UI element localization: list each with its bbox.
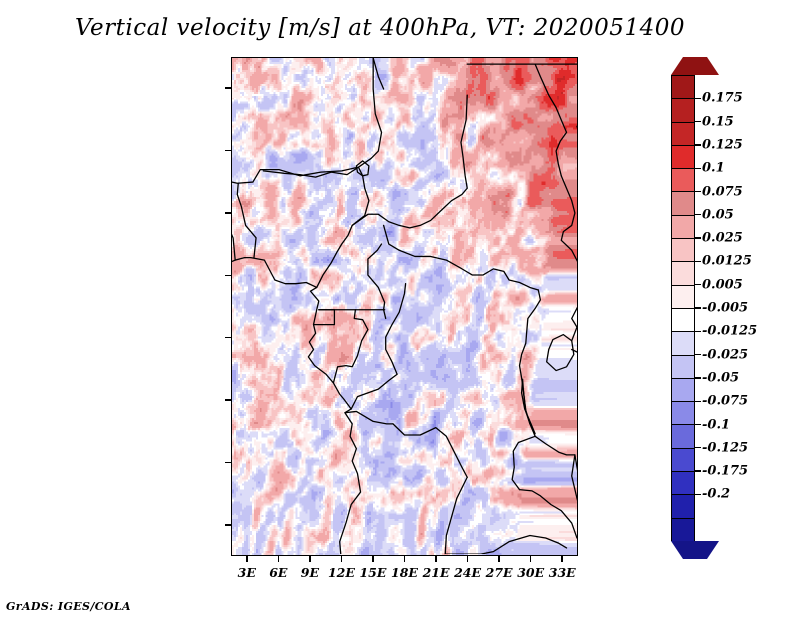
border-line — [481, 536, 567, 555]
border-line — [232, 258, 317, 288]
colorbar-tick — [695, 214, 701, 215]
border-line — [547, 335, 574, 371]
colorbar-tick — [695, 237, 701, 238]
border-line — [445, 477, 467, 554]
x-tick — [467, 556, 469, 562]
x-tick — [404, 556, 406, 562]
colorbar-tick-label: 0.1 — [702, 161, 725, 176]
footer-credit: GrADS: IGES/COLA — [6, 600, 131, 613]
map-plot-area — [231, 57, 578, 556]
border-line — [535, 64, 566, 176]
colorbar-tick-label: 0.0125 — [702, 254, 752, 269]
x-axis-label: 9E — [301, 565, 319, 580]
colorbar-band — [672, 519, 694, 542]
colorbar-band — [672, 495, 694, 518]
colorbar-band — [672, 356, 694, 379]
x-tick — [278, 556, 280, 562]
country-borders-overlay — [232, 58, 577, 554]
colorbar-band — [672, 169, 694, 192]
colorbar-tick-label: -0.075 — [702, 394, 748, 409]
colorbar-tick-label: -0.05 — [702, 370, 739, 385]
colorbar-band — [672, 76, 694, 99]
border-line — [345, 411, 393, 423]
border-line — [352, 95, 467, 228]
x-axis-label: 21E — [423, 565, 450, 580]
colorbar-band — [672, 123, 694, 146]
colorbar-tick — [695, 447, 701, 448]
colorbar-cap-top — [671, 57, 719, 75]
x-axis-label: 27E — [486, 565, 513, 580]
border-line — [572, 278, 577, 341]
colorbar-tick — [695, 401, 701, 402]
x-axis-label: 12E — [328, 565, 355, 580]
colorbar-tick — [695, 284, 701, 285]
x-tick — [435, 556, 437, 562]
colorbar-band — [672, 472, 694, 495]
colorbar-tick — [695, 261, 701, 262]
x-tick — [498, 556, 500, 562]
border-line — [308, 287, 360, 554]
border-line — [393, 424, 467, 477]
x-axis-label: 18E — [391, 565, 418, 580]
x-tick — [246, 556, 248, 562]
colorbar-band — [672, 239, 694, 262]
x-tick — [530, 556, 532, 562]
colorbar-tick-label: 0.175 — [702, 91, 743, 106]
border-line — [522, 379, 536, 434]
colorbar-cap-bottom — [671, 541, 719, 559]
x-tick — [341, 556, 343, 562]
border-line — [351, 284, 405, 409]
border-line — [232, 167, 358, 183]
colorbar-tick-label: 0.125 — [702, 137, 743, 152]
colorbar-tick — [695, 494, 701, 495]
y-tick — [225, 275, 231, 277]
y-tick — [225, 462, 231, 464]
border-line — [317, 167, 369, 287]
colorbar-tick-label: 0.075 — [702, 184, 743, 199]
colorbar-tick — [695, 98, 701, 99]
y-tick — [225, 337, 231, 339]
colorbar-tick — [695, 331, 701, 332]
x-tick — [561, 556, 563, 562]
border-line — [561, 176, 577, 281]
x-axis-label: 15E — [359, 565, 386, 580]
colorbar-tick-label: -0.005 — [702, 301, 748, 316]
x-axis-label: 3E — [238, 565, 256, 580]
colorbar-tick-label: 0.05 — [702, 207, 734, 222]
colorbar-band — [672, 262, 694, 285]
x-axis-label: 6E — [269, 565, 287, 580]
colorbar-bands — [671, 75, 695, 541]
border-line — [356, 161, 369, 176]
border-line — [535, 436, 575, 455]
y-tick — [225, 399, 231, 401]
colorbar-band — [672, 309, 694, 332]
colorbar-tick — [695, 168, 701, 169]
colorbar-band — [672, 192, 694, 215]
colorbar-tick-label: 0.025 — [702, 231, 743, 246]
border-line — [384, 225, 539, 290]
colorbar-tick-label: 0.005 — [702, 277, 743, 292]
colorbar-band — [672, 99, 694, 122]
border-line — [572, 455, 577, 515]
colorbar-band — [672, 286, 694, 309]
y-tick — [225, 212, 231, 214]
colorbar-tick-label: 0.15 — [702, 114, 734, 129]
border-line — [237, 183, 256, 257]
y-tick — [225, 524, 231, 526]
colorbar-tick — [695, 121, 701, 122]
x-axis-label: 33E — [549, 565, 576, 580]
border-line — [512, 290, 540, 490]
colorbar-tick-label: -0.1 — [702, 417, 730, 432]
colorbar-tick — [695, 424, 701, 425]
y-tick — [225, 87, 231, 89]
border-line — [263, 167, 358, 177]
colorbar-band — [672, 216, 694, 239]
colorbar-band — [672, 332, 694, 355]
colorbar-band — [672, 449, 694, 472]
colorbar — [671, 57, 695, 559]
x-axis-label: 24E — [454, 565, 481, 580]
colorbar-tick-label: -0.025 — [702, 347, 748, 362]
colorbar-tick — [695, 307, 701, 308]
colorbar-tick — [695, 377, 701, 378]
colorbar-band — [672, 425, 694, 448]
colorbar-tick — [695, 191, 701, 192]
colorbar-tick — [695, 470, 701, 471]
colorbar-band — [672, 402, 694, 425]
x-axis-label: 30E — [517, 565, 544, 580]
colorbar-tick — [695, 354, 701, 355]
colorbar-tick-label: -0.175 — [702, 464, 748, 479]
border-line — [333, 310, 367, 383]
x-tick — [372, 556, 374, 562]
colorbar-tick-label: -0.0125 — [702, 324, 757, 339]
x-tick — [309, 556, 311, 562]
colorbar-tick — [695, 144, 701, 145]
y-tick — [225, 150, 231, 152]
colorbar-band — [672, 146, 694, 169]
colorbar-tick-label: -0.2 — [702, 487, 730, 502]
colorbar-band — [672, 379, 694, 402]
border-line — [373, 58, 383, 89]
border-line — [520, 490, 577, 538]
page-title: Vertical velocity [m/s] at 400hPa, VT: 2… — [0, 15, 760, 41]
colorbar-tick-label: -0.125 — [702, 440, 748, 455]
border-line — [232, 194, 235, 260]
border-line — [368, 244, 386, 318]
